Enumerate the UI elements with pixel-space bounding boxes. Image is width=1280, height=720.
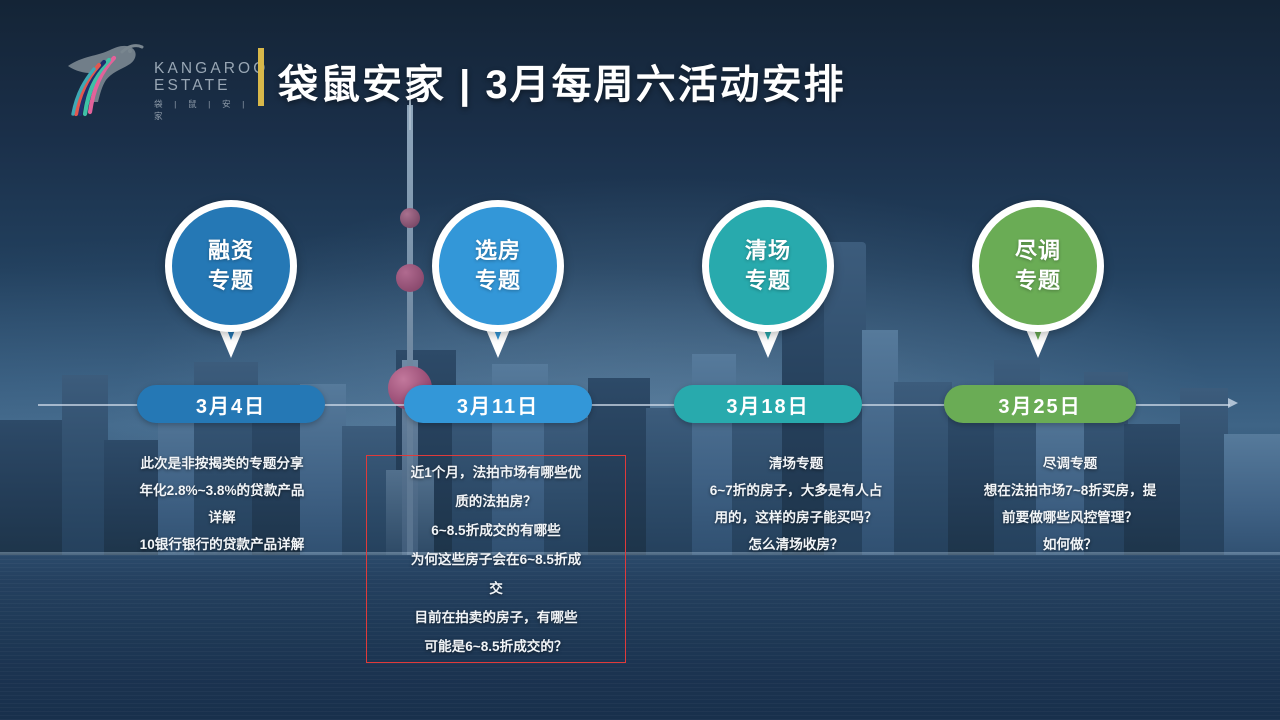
- date-pill-2[interactable]: 3月11日: [404, 385, 592, 423]
- date-pill-4[interactable]: 3月25日: [944, 385, 1136, 423]
- desc-line: 怎么清场收房？: [660, 531, 932, 558]
- milestone-pin-1[interactable]: 融资 专题: [165, 200, 297, 368]
- milestone-pin-4[interactable]: 尽调 专题: [972, 200, 1104, 368]
- desc-line: 清场专题: [660, 450, 932, 477]
- desc-line: 6~8.5折成交的有哪些: [372, 516, 620, 545]
- pin-label-3: 清场 专题: [702, 200, 834, 332]
- desc-line: 为何这些房子会在6~8.5折成: [372, 545, 620, 574]
- desc-line: 此次是非按揭类的专题分享: [88, 450, 356, 477]
- pin-title-line1-2: 选房: [475, 236, 521, 266]
- desc-line: 尽调专题: [932, 450, 1208, 477]
- desc-line: 如何做？: [932, 531, 1208, 558]
- desc-line: 可能是6~8.5折成交的？: [372, 632, 620, 661]
- desc-line: 想在法拍市场7~8折买房，提: [932, 477, 1208, 504]
- desc-line: 6~7折的房子，大多是有人占: [660, 477, 932, 504]
- pin-title-line1-3: 清场: [745, 236, 791, 266]
- pin-title-line1-1: 融资: [208, 236, 254, 266]
- desc-line: 10银行银行的贷款产品详解: [88, 531, 356, 558]
- desc-line: 前要做哪些风控管理？: [932, 504, 1208, 531]
- pin-label-4: 尽调 专题: [972, 200, 1104, 332]
- timeline-milestones: 融资 专题 3月4日 此次是非按揭类的专题分享 年化2.8%~3.8%的贷款产品…: [0, 0, 1280, 720]
- pin-label-2: 选房 专题: [432, 200, 564, 332]
- milestone-description-4: 尽调专题 想在法拍市场7~8折买房，提 前要做哪些风控管理？ 如何做？: [932, 450, 1208, 558]
- pin-label-1: 融资 专题: [165, 200, 297, 332]
- date-pill-1[interactable]: 3月4日: [137, 385, 325, 423]
- pin-title-line1-4: 尽调: [1015, 236, 1061, 266]
- desc-line: 目前在拍卖的房子，有哪些: [372, 603, 620, 632]
- desc-line: 详解: [88, 504, 356, 531]
- milestone-description-3: 清场专题 6~7折的房子，大多是有人占 用的，这样的房子能买吗？ 怎么清场收房？: [660, 450, 932, 558]
- pin-title-line2-1: 专题: [208, 266, 254, 296]
- pin-title-line2-4: 专题: [1015, 266, 1061, 296]
- slide-canvas: KANGAROO ESTATE 袋 | 鼠 | 安 | 家 袋鼠安家 | 3月每…: [0, 0, 1280, 720]
- milestone-description-2: 近1个月，法拍市场有哪些优 质的法拍房？ 6~8.5折成交的有哪些 为何这些房子…: [372, 458, 620, 661]
- milestone-description-1: 此次是非按揭类的专题分享 年化2.8%~3.8%的贷款产品 详解 10银行银行的…: [88, 450, 356, 558]
- desc-line: 近1个月，法拍市场有哪些优: [372, 458, 620, 487]
- date-pill-3[interactable]: 3月18日: [674, 385, 862, 423]
- desc-line: 交: [372, 574, 620, 603]
- pin-title-line2-3: 专题: [745, 266, 791, 296]
- desc-line: 年化2.8%~3.8%的贷款产品: [88, 477, 356, 504]
- milestone-pin-2[interactable]: 选房 专题: [432, 200, 564, 368]
- desc-line: 用的，这样的房子能买吗？: [660, 504, 932, 531]
- desc-line: 质的法拍房？: [372, 487, 620, 516]
- pin-title-line2-2: 专题: [475, 266, 521, 296]
- milestone-pin-3[interactable]: 清场 专题: [702, 200, 834, 368]
